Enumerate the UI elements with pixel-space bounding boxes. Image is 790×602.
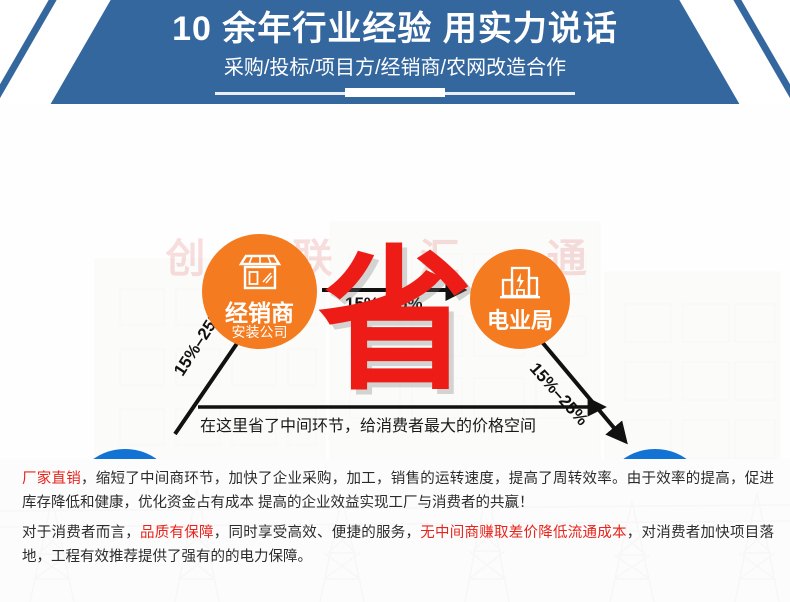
footer-text-block: 厂家直销，缩短了中间商环节，加快了企业采购，加工，销售的运转速度，提高了周转效率… — [0, 459, 790, 602]
header-content: 10 余年行业经验 用实力说话 采购/投标/项目方/经销商/农网改造合作 — [0, 0, 790, 104]
header-divider-center — [345, 88, 445, 97]
node-power-bureau[interactable]: 电业局 — [470, 249, 570, 349]
storefront-icon — [202, 254, 317, 290]
power-building-icon — [470, 266, 570, 300]
node-dealer[interactable]: 经销商 安装公司 — [202, 234, 317, 349]
footer-p2-mid: ，同时享受高效、便捷的服务， — [214, 525, 421, 541]
footer-p2-highlight-2: 无中间商赚取差价降低流通成本 — [420, 525, 627, 541]
footer-p2-lead: 对于消费者而言， — [22, 525, 140, 541]
header-banner: 10 余年行业经验 用实力说话 采购/投标/项目方/经销商/农网改造合作 — [0, 0, 790, 104]
footer-paragraph-1: 厂家直销，缩短了中间商环节，加快了企业采购，加工，销售的运转速度，提高了周转效率… — [22, 467, 774, 515]
center-save-character: 省 — [318, 244, 473, 399]
node-power-bureau-label: 电业局 — [470, 303, 570, 335]
diagram-stage: 创 联 汇 通 15%–25% 15%–25% 15%–25% 在这里省了中间环… — [0, 104, 790, 459]
footer-p1-highlight: 厂家直销 — [22, 471, 81, 487]
header-subtitle: 采购/投标/项目方/经销商/农网改造合作 — [0, 55, 790, 81]
footer-p2-highlight-1: 品质有保障 — [140, 525, 214, 541]
header-title: 10 余年行业经验 用实力说话 — [0, 9, 790, 49]
footer-paragraph-2: 对于消费者而言，品质有保障，同时享受高效、便捷的服务，无中间商赚取差价降低流通成… — [22, 521, 774, 569]
node-dealer-sublabel: 安装公司 — [202, 322, 317, 342]
infographic-page: 10 余年行业经验 用实力说话 采购/投标/项目方/经销商/农网改造合作 — [0, 0, 790, 602]
arrow-label-company-to-consumer: 在这里省了中间环节，给消费者最大的价格空间 — [200, 412, 536, 436]
footer-p1-rest: ，缩短了中间商环节，加快了企业采购，加工，销售的运转速度，提高了周转效率。由于效… — [22, 471, 774, 511]
